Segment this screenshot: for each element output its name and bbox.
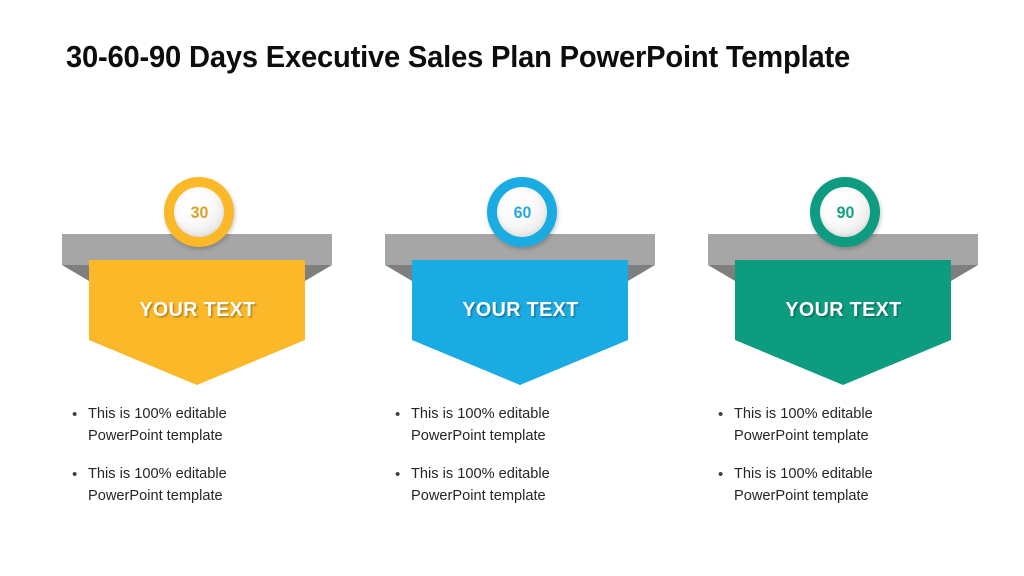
badge-number: 90 (836, 204, 854, 221)
milestone-badge-90[interactable]: 90 (810, 177, 880, 247)
shelf-fold-right (628, 265, 655, 281)
ribbon-banner[interactable]: YOUR TEXT (735, 260, 951, 385)
list-item: • This is 100% editable PowerPoint templ… (716, 464, 978, 507)
list-item: • This is 100% editable PowerPoint templ… (70, 464, 332, 507)
bullet-marker-icon: • (393, 404, 411, 426)
milestone-badge-60[interactable]: 60 (487, 177, 557, 247)
milestone-column-30: YOUR TEXT 30 • This is 100% editable Pow… (38, 0, 362, 576)
badge-inner-disc: 60 (497, 187, 547, 237)
list-item: • This is 100% editable PowerPoint templ… (716, 404, 978, 447)
bullet-marker-icon: • (70, 404, 88, 426)
milestone-column-90: YOUR TEXT 90 • This is 100% editable Pow… (684, 0, 1008, 576)
shelf-fold-left (62, 265, 89, 281)
bullet-text: This is 100% editable PowerPoint templat… (734, 464, 904, 507)
bullet-text: This is 100% editable PowerPoint templat… (88, 404, 258, 447)
badge-inner-disc: 90 (820, 187, 870, 237)
list-item: • This is 100% editable PowerPoint templ… (393, 404, 655, 447)
bullet-text: This is 100% editable PowerPoint templat… (734, 404, 904, 447)
shelf-fold-left (385, 265, 412, 281)
milestone-columns: YOUR TEXT 30 • This is 100% editable Pow… (0, 0, 1024, 576)
bullet-marker-icon: • (70, 464, 88, 486)
list-item: • This is 100% editable PowerPoint templ… (393, 464, 655, 507)
milestone-column-60: YOUR TEXT 60 • This is 100% editable Pow… (361, 0, 685, 576)
badge-number: 30 (190, 204, 208, 221)
bullet-marker-icon: • (393, 464, 411, 486)
bullet-text: This is 100% editable PowerPoint templat… (411, 464, 581, 507)
shelf-fold-left (708, 265, 735, 281)
bullet-text: This is 100% editable PowerPoint templat… (411, 404, 581, 447)
badge-number: 60 (513, 204, 531, 221)
bullet-list: • This is 100% editable PowerPoint templ… (716, 404, 978, 524)
list-item: • This is 100% editable PowerPoint templ… (70, 404, 332, 447)
ribbon-label: YOUR TEXT (785, 298, 901, 322)
bullet-list: • This is 100% editable PowerPoint templ… (70, 404, 332, 524)
bullet-text: This is 100% editable PowerPoint templat… (88, 464, 258, 507)
badge-inner-disc: 30 (174, 187, 224, 237)
shelf-fold-right (951, 265, 978, 281)
ribbon-label: YOUR TEXT (139, 298, 255, 322)
bullet-marker-icon: • (716, 404, 734, 426)
bullet-marker-icon: • (716, 464, 734, 486)
ribbon-banner[interactable]: YOUR TEXT (89, 260, 305, 385)
bullet-list: • This is 100% editable PowerPoint templ… (393, 404, 655, 524)
milestone-badge-30[interactable]: 30 (164, 177, 234, 247)
ribbon-label: YOUR TEXT (462, 298, 578, 322)
shelf-fold-right (305, 265, 332, 281)
ribbon-banner[interactable]: YOUR TEXT (412, 260, 628, 385)
